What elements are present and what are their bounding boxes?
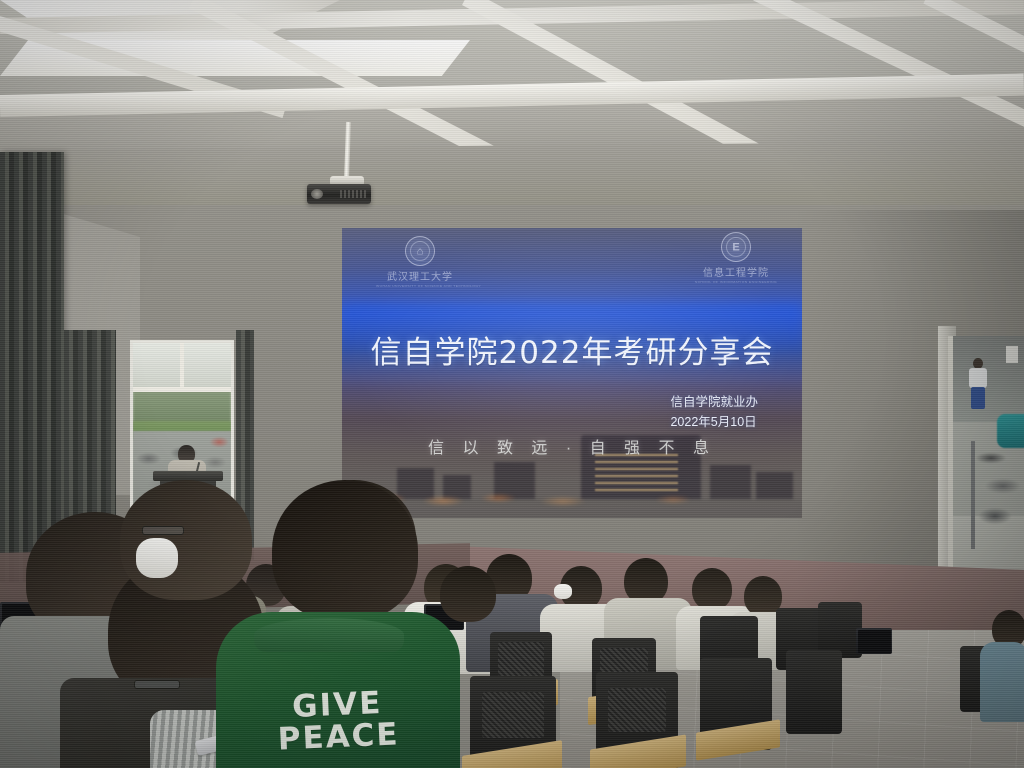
lecture-hall-photo: ⌂ 武汉理工大学 WUHAN UNIVERSITY OF SCIENCE AND… [0, 0, 1024, 768]
slide-presenter-line: 信自学院就业办 [670, 393, 758, 412]
university-emblem-mark: ⌂ [417, 246, 424, 257]
slide-date-line: 2022年5月10日 [670, 413, 758, 432]
eyeglasses-icon [134, 680, 180, 689]
lecture-seat[interactable] [786, 650, 842, 734]
school-emblem-mark: E [732, 242, 739, 253]
university-emblem-ring: ⌂ [405, 236, 435, 266]
face-mask [136, 538, 178, 578]
seat-mesh-back [498, 642, 544, 678]
ceiling [0, 0, 1024, 235]
university-emblem-icon: ⌂ 武汉理工大学 WUHAN UNIVERSITY OF SCIENCE AND… [376, 236, 464, 288]
jacket-collar [254, 618, 404, 652]
face-mask [554, 584, 572, 599]
jacket-text: GIVE PEACE [215, 685, 462, 759]
audience-head-foreground [120, 480, 252, 600]
projector-lens-icon [311, 189, 323, 199]
projector-icon [307, 184, 371, 204]
audience-head-foreground [272, 480, 418, 620]
green-jacket: GIVE PEACE [216, 612, 460, 768]
audience-head [440, 566, 496, 622]
school-name-cn: 信息工程学院 [692, 264, 780, 279]
school-name-en: SCHOOL OF INFORMATION ENGINEERING [692, 280, 780, 284]
seat-mesh-back [482, 692, 544, 738]
slide-motto: 信 以 致 远 · 自 强 不 息 [342, 434, 802, 458]
tablet[interactable] [856, 628, 892, 654]
university-name-en: WUHAN UNIVERSITY OF SCIENCE AND TECHNOLO… [376, 284, 464, 288]
school-emblem-icon: E 信息工程学院 SCHOOL OF INFORMATION ENGINEERI… [692, 232, 780, 284]
tablet-screen [858, 630, 891, 653]
school-emblem-ring: E [721, 232, 751, 262]
slide-subtitle-block: 信自学院就业办 2022年5月10日 [670, 393, 758, 432]
projection-screen: ⌂ 武汉理工大学 WUHAN UNIVERSITY OF SCIENCE AND… [342, 228, 802, 518]
window-left-mullion-horizontal [133, 387, 231, 392]
audience-head [692, 568, 732, 610]
audience-body [980, 642, 1024, 722]
window-left-mullion-vertical [180, 343, 184, 389]
seat-mesh-back [608, 688, 666, 732]
slide-title: 信自学院2022年考研分享会 [342, 327, 802, 372]
university-name-cn: 武汉理工大学 [376, 268, 464, 283]
audience: GIVE PEACE [0, 480, 1024, 768]
projector-vent [340, 190, 366, 198]
eyeglasses-icon [142, 526, 184, 535]
